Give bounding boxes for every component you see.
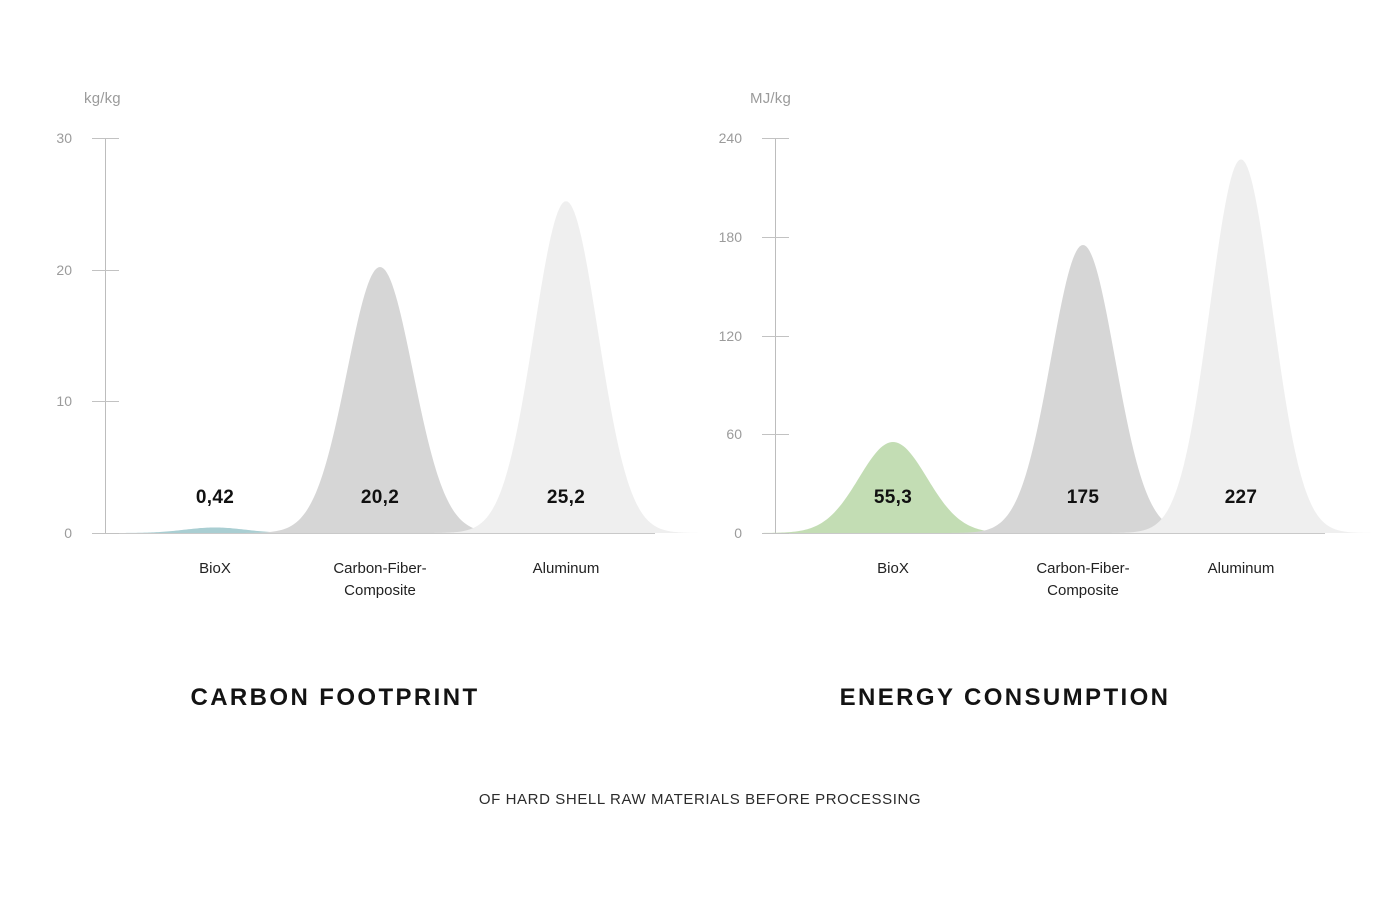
distribution-curves-carbon-footprint	[105, 138, 655, 533]
value-label-aluminum: 25,2	[547, 487, 585, 509]
y-tick-0: 0	[762, 533, 789, 534]
y-tick-label-60: 60	[726, 424, 742, 444]
value-label-carbon-fiber-composite: 20,2	[361, 487, 399, 509]
y-tick-label-30: 30	[56, 128, 72, 148]
y-tick-label-10: 10	[56, 391, 72, 411]
chart-panel-carbon-footprint: kg/kg 30 20 10 0 0,42 20,2 25,2 BioX Car…	[0, 0, 670, 900]
chart-title-carbon-footprint: CARBON FOOTPRINT	[0, 684, 670, 712]
plot-area-energy-consumption: 240 180 120 60 0 55,3 175 227 BioX Carbo…	[775, 138, 1325, 533]
infographic-figure: kg/kg 30 20 10 0 0,42 20,2 25,2 BioX Car…	[0, 0, 1400, 900]
y-tick-label-240: 240	[719, 128, 742, 148]
distribution-curves-energy-consumption	[775, 138, 1325, 533]
y-tick-label-0: 0	[734, 523, 742, 543]
y-tick-label-180: 180	[719, 227, 742, 247]
y-axis-unit-label: kg/kg	[84, 90, 121, 107]
chart-title-energy-consumption: ENERGY CONSUMPTION	[670, 684, 1340, 712]
y-axis-unit-label: MJ/kg	[750, 90, 791, 107]
value-label-biox: 0,42	[196, 487, 234, 509]
distribution-curve	[432, 201, 701, 533]
x-axis-line	[763, 533, 1325, 534]
x-category-label-carbon-fiber-composite: Carbon-Fiber- Composite	[1036, 558, 1129, 602]
chart-panel-energy-consumption: MJ/kg 240 180 120 60 0 55,3 175 227	[670, 0, 1340, 900]
value-label-biox: 55,3	[874, 487, 912, 509]
y-tick-label-120: 120	[719, 326, 742, 346]
value-label-carbon-fiber-composite: 175	[1067, 487, 1100, 509]
value-label-aluminum: 227	[1225, 487, 1258, 509]
x-category-label-biox: BioX	[199, 558, 231, 580]
x-category-label-biox: BioX	[877, 558, 909, 580]
distribution-curve	[1111, 159, 1371, 533]
y-tick-0: 0	[92, 533, 119, 534]
x-category-label-carbon-fiber-composite: Carbon-Fiber- Composite	[333, 558, 426, 602]
y-tick-label-20: 20	[56, 260, 72, 280]
plot-area-carbon-footprint: 30 20 10 0 0,42 20,2 25,2 BioX Carbon-Fi…	[105, 138, 655, 533]
x-category-label-aluminum: Aluminum	[533, 558, 600, 580]
y-tick-label-0: 0	[64, 523, 72, 543]
x-category-label-aluminum: Aluminum	[1208, 558, 1275, 580]
figure-caption: OF HARD SHELL RAW MATERIALS BEFORE PROCE…	[0, 791, 1400, 808]
x-axis-line	[93, 533, 655, 534]
